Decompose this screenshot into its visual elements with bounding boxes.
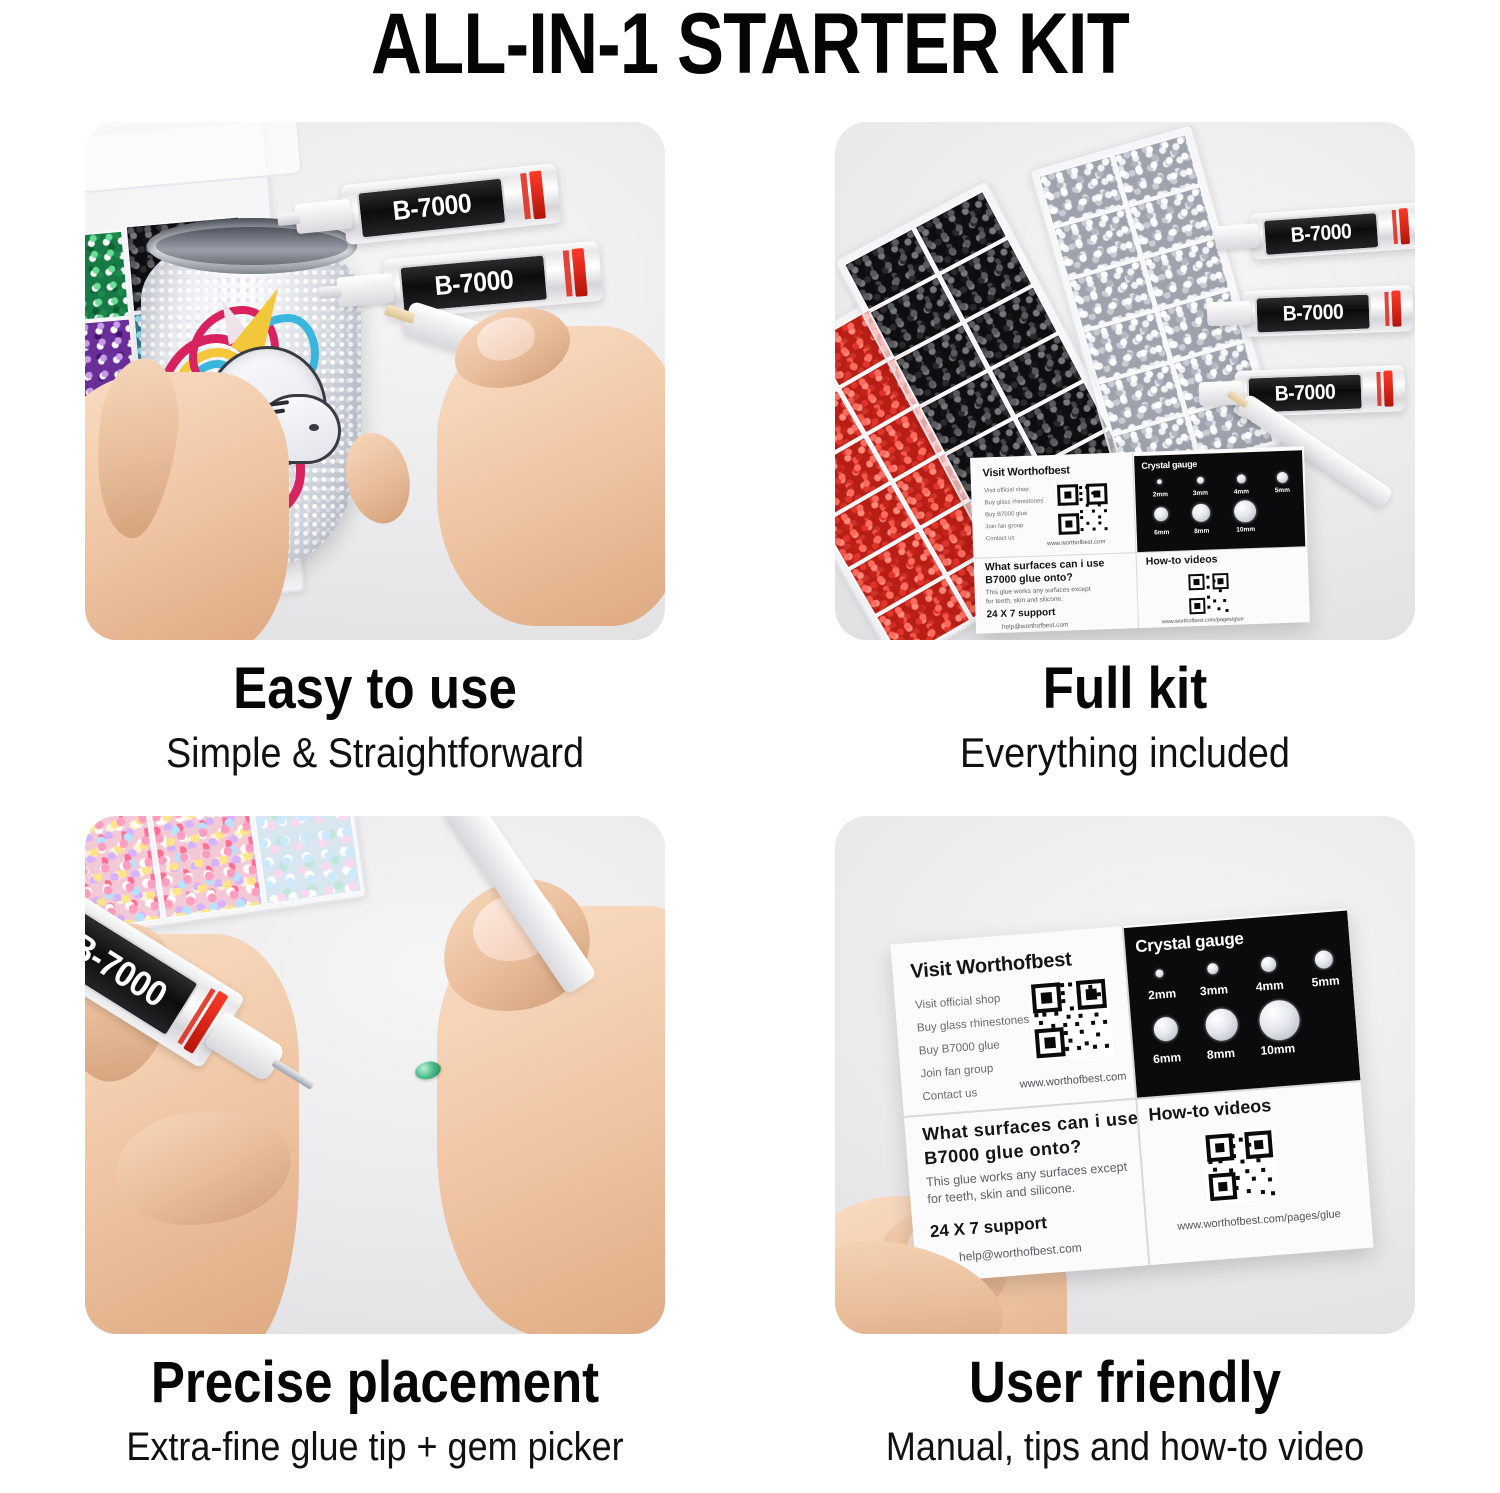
crystal-gauge-title: Crystal gauge (1135, 929, 1245, 957)
glue-tube-label: B-7000 (391, 188, 473, 227)
page-title: ALL-IN-1 STARTER KIT (135, 0, 1365, 92)
feature-cell-user-friendly: Visit Worthofbest Visit official shop Bu… (750, 800, 1500, 1470)
crystal-size-label: 5mm (1304, 973, 1347, 990)
howto-qr-code (1186, 571, 1232, 617)
feature-grid: B-7000 B-7000 Easy to use Simple & Strai… (0, 106, 1500, 1493)
crystal-size-label: 8mm (1199, 1045, 1242, 1062)
feature-photo-easy-to-use: B-7000 B-7000 (85, 122, 665, 640)
crystal-gauge-title: Crystal gauge (1141, 459, 1197, 471)
feature-photo-precise-placement: B-7000 (85, 816, 665, 1334)
feature-heading: User friendly (795, 1352, 1455, 1414)
card-support-title: 24 X 7 support (929, 1213, 1047, 1242)
card-support-title: 24 X 7 support (986, 607, 1055, 620)
instruction-card-small: Visit Worthofbest Visit official shop Bu… (970, 446, 1310, 634)
feature-photo-user-friendly: Visit Worthofbest Visit official shop Bu… (835, 816, 1415, 1334)
card-shop-links: Visit official shop Buy glass rhinestone… (914, 986, 1035, 1109)
shop-qr-code (1055, 481, 1111, 537)
feature-subheading: Simple & Straightforward (38, 730, 713, 776)
crystal-size-label: 4mm (1226, 488, 1256, 496)
crystal-size-label: 2mm (1141, 986, 1184, 1003)
feature-photo-full-kit: B-7000 B-7000 B-7000 (835, 122, 1415, 640)
feature-subheading: Everything included (788, 730, 1463, 776)
card-support-email: help@worthofbest.com (1002, 622, 1069, 631)
howto-qr-code (1202, 1127, 1279, 1204)
glue-tube-label: B-7000 (1274, 380, 1335, 406)
card-shop-link: Contact us (986, 531, 1045, 545)
crystal-size-label: 5mm (1267, 486, 1297, 494)
crystal-size-label: 2mm (1145, 491, 1175, 499)
card-shop-title: Visit Worthofbest (982, 464, 1070, 479)
shop-qr-code (1028, 976, 1114, 1062)
crystal-size-label: 8mm (1187, 527, 1217, 535)
card-shop-url: www.worthofbest.com (1019, 1070, 1127, 1090)
feature-cell-full-kit: B-7000 B-7000 B-7000 (750, 106, 1500, 776)
feature-heading: Full kit (795, 658, 1455, 720)
glue-tube-2: B-7000 (1242, 285, 1414, 337)
card-faq-question: What surfaces can i use B7000 glue onto? (985, 557, 1105, 587)
card-howto-title: How-to videos (1148, 1095, 1272, 1126)
feature-heading: Precise placement (45, 1352, 705, 1414)
card-shop-link: Buy glass rhinestones (984, 495, 1043, 509)
feature-cell-easy-to-use: B-7000 B-7000 Easy to use Simple & Strai… (0, 106, 750, 776)
feature-subheading: Extra-fine glue tip + gem picker (38, 1424, 713, 1470)
crystal-size-label: 3mm (1192, 982, 1235, 999)
glue-tube-label: B-7000 (1282, 300, 1343, 326)
glue-tube-label: B-7000 (433, 265, 514, 303)
feature-subheading: Manual, tips and how-to video (788, 1424, 1463, 1470)
crystal-size-label: 10mm (1251, 1040, 1304, 1058)
card-shop-url: www.worthofbest.com (1047, 539, 1106, 547)
glue-tube-label: B-7000 (1290, 220, 1352, 248)
crystal-gauge-panel: Crystal gauge 2mm 3mm 4mm 5mm 6mm 8mm 10… (1124, 911, 1361, 1098)
instruction-card: Visit Worthofbest Visit official shop Bu… (890, 909, 1373, 1284)
card-howto-url: www.worthofbest.com/pages/glue (1162, 616, 1244, 625)
crystal-size-label: 4mm (1248, 977, 1291, 994)
card-shop-links: Visit official shop Buy glass rhinestone… (984, 483, 1045, 545)
card-howto-url: www.worthofbest.com/pages/glue (1177, 1208, 1341, 1233)
crystal-size-label: 3mm (1185, 489, 1215, 497)
feature-heading: Easy to use (45, 658, 705, 720)
crystal-size-label: 6mm (1146, 1050, 1189, 1067)
card-faq-answer: This glue works any surfaces except for … (986, 585, 1091, 607)
crystal-size-label: 10mm (1230, 526, 1262, 534)
crystal-gauge-panel: Crystal gauge 2mm 3mm 4mm 5mm 6mm 8mm 10… (1134, 450, 1305, 552)
card-howto-title: How-to videos (1146, 553, 1218, 567)
feature-cell-precise-placement: B-7000 Precise placement Extra-fine glue… (0, 800, 750, 1470)
crystal-size-label: 6mm (1147, 529, 1177, 537)
card-support-email: help@worthofbest.com (959, 1240, 1083, 1264)
card-shop-title: Visit Worthofbest (910, 948, 1073, 984)
